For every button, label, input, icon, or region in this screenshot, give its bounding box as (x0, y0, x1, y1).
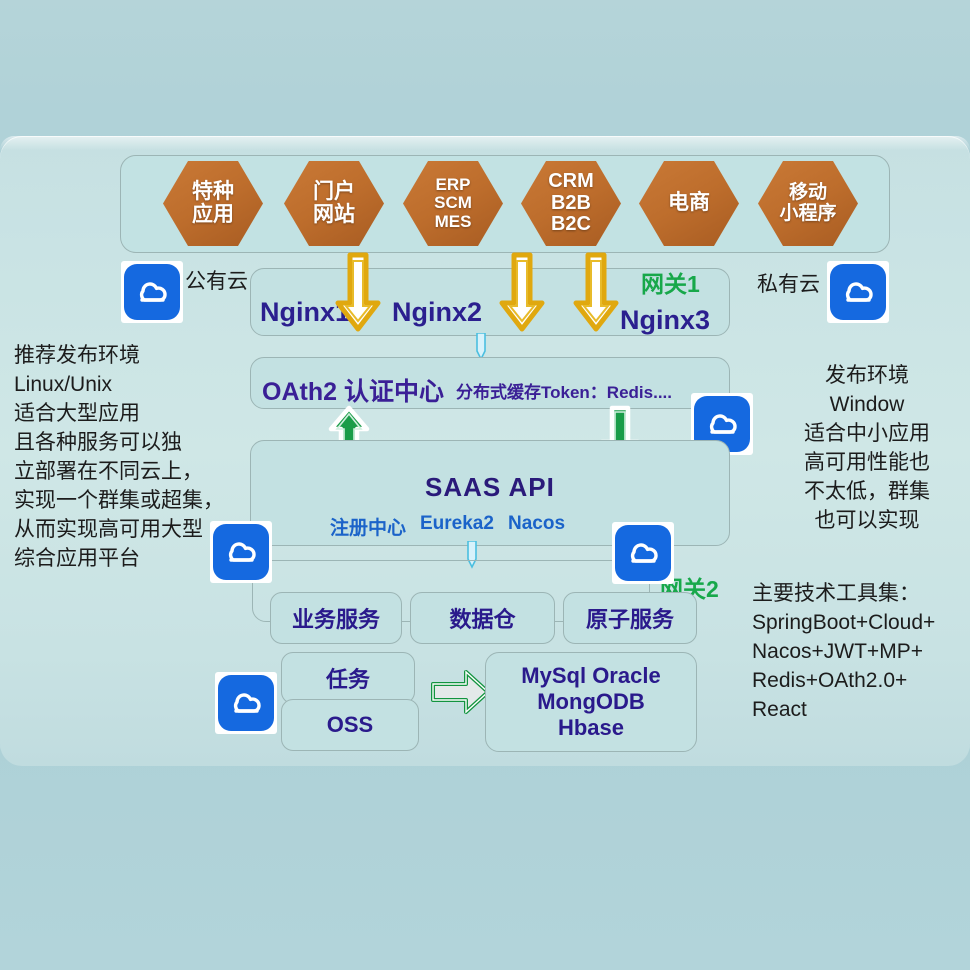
db-line: Hbase (558, 715, 624, 741)
flow-arrow-down-yellow-2 (496, 251, 548, 340)
hex-line: 小程序 (779, 204, 836, 225)
eureka2-label[interactable]: Eureka2 (420, 513, 494, 535)
note-right: 发布环境 Window 适合中小应用 高可用性能也 不太低，群集 也可以实现 (762, 362, 970, 536)
note-left: 推荐发布环境 Linux/Unix 适合大型应用 且各种服务可以独 立部署在不同… (14, 342, 244, 574)
hex-line: 移动 (779, 183, 836, 204)
hex-line: CRM (548, 171, 594, 193)
cloud-icon-private (827, 261, 889, 323)
flow-arrow-down-yellow-1 (332, 251, 384, 340)
service-box-atomic[interactable]: 原子服务 (563, 592, 697, 644)
cloud-icon-bottom-left (215, 672, 277, 734)
note-tools: 主要技术工具集： SpringBoot+Cloud+ Nacos+JWT+MP+… (752, 580, 970, 725)
cloud-glyph (226, 687, 266, 719)
hex-line: B2C (548, 214, 594, 236)
cloud-glyph (702, 408, 742, 440)
db-line: MongODB (537, 689, 645, 715)
db-line: MySql Oracle (521, 663, 660, 689)
service-box-oss[interactable]: OSS (281, 699, 419, 751)
registry-label: 注册中心 (330, 513, 406, 540)
token-cache-label: 分布式缓存Token：Redis.... (456, 378, 672, 403)
cloud-glyph (623, 537, 663, 569)
hex-line: 门户 (313, 181, 355, 204)
cloud-icon-public (121, 261, 183, 323)
service-box-datawarehouse[interactable]: 数据仓 (410, 592, 555, 644)
hex-line: ERP (434, 176, 472, 194)
oauth2-title[interactable]: OAth2 认证中心 (262, 372, 444, 408)
diagram-canvas: 特种应用 门户网站 ERPSCMMES CRMB2BB2C 电商 移动小程序 N… (0, 0, 970, 970)
hex-line: 特种 (192, 181, 234, 204)
saas-api-title: SAAS API (425, 472, 555, 503)
cloud-icon-services-right (612, 522, 674, 584)
hex-line: SCM (434, 194, 472, 212)
hex-line: 应用 (192, 204, 234, 227)
nacos-label[interactable]: Nacos (508, 513, 565, 535)
hex-line: 电商 (668, 192, 710, 215)
private-cloud-label: 私有云 (757, 268, 820, 298)
flow-arrow-right-green (430, 668, 492, 721)
hex-line: MES (434, 213, 472, 231)
cloud-glyph (838, 276, 878, 308)
flow-arrow-down-yellow-3 (570, 251, 622, 340)
service-box-business[interactable]: 业务服务 (270, 592, 402, 644)
service-box-task[interactable]: 任务 (281, 652, 415, 704)
nginx3-label[interactable]: Nginx3 (620, 305, 710, 336)
hex-line: B2B (548, 193, 594, 215)
cloud-glyph (132, 276, 172, 308)
public-cloud-label: 公有云 (185, 265, 248, 295)
database-box[interactable]: MySql Oracle MongODB Hbase (485, 652, 697, 752)
hex-line: 网站 (313, 204, 355, 227)
gateway1-tag: 网关1 (641, 265, 700, 299)
nginx2-label[interactable]: Nginx2 (392, 297, 482, 328)
